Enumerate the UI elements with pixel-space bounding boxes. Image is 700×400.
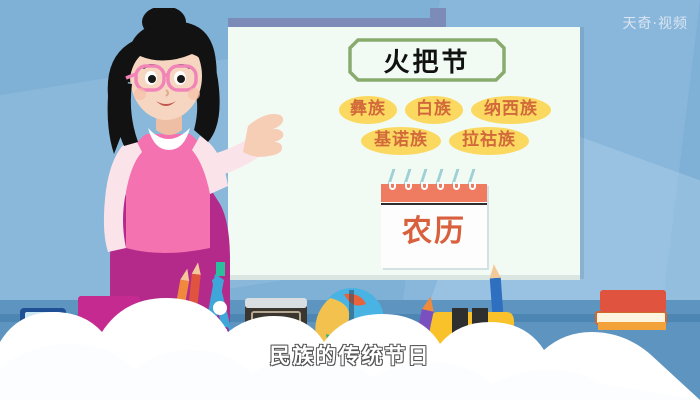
eye-left	[148, 75, 156, 83]
eye-right	[177, 75, 185, 83]
calendar-ring-icon	[469, 173, 476, 193]
calendar-ring-icon	[405, 173, 412, 193]
tag-lahu: 拉祜族	[449, 127, 529, 155]
whiteboard-rail-tab	[430, 8, 446, 22]
tag-yi: 彝族	[339, 96, 397, 124]
calendar-heading: 农历	[381, 206, 487, 250]
calendar-divider	[381, 203, 487, 205]
calendar-ring-icon	[389, 173, 396, 193]
calendar-ring-icon	[421, 173, 428, 193]
tag-row-1: 彝族 白族 纳西族	[300, 96, 590, 124]
title-banner: 火把节	[348, 38, 506, 82]
subtitle-caption: 民族的传统节日	[0, 340, 700, 370]
tag-bai: 白族	[405, 96, 463, 124]
blush-right	[188, 88, 200, 100]
tag-naxi: 纳西族	[471, 96, 551, 124]
cloud-foreground	[0, 270, 700, 400]
calendar-ring-icon	[453, 173, 460, 193]
video-frame: 火把节 彝族 白族 纳西族 基诺族 拉祜族 农历 六月二十四	[0, 0, 700, 400]
ethnic-tag-group: 彝族 白族 纳西族 基诺族 拉祜族	[300, 96, 590, 158]
tag-jinuo: 基诺族	[361, 127, 441, 155]
blush-left	[134, 88, 146, 100]
calendar-ring-icon	[437, 173, 444, 193]
watermark: 天奇·视频	[623, 13, 688, 33]
tag-row-2: 基诺族 拉祜族	[300, 127, 590, 155]
page-title: 火把节	[348, 38, 506, 82]
hand-right	[243, 114, 283, 157]
